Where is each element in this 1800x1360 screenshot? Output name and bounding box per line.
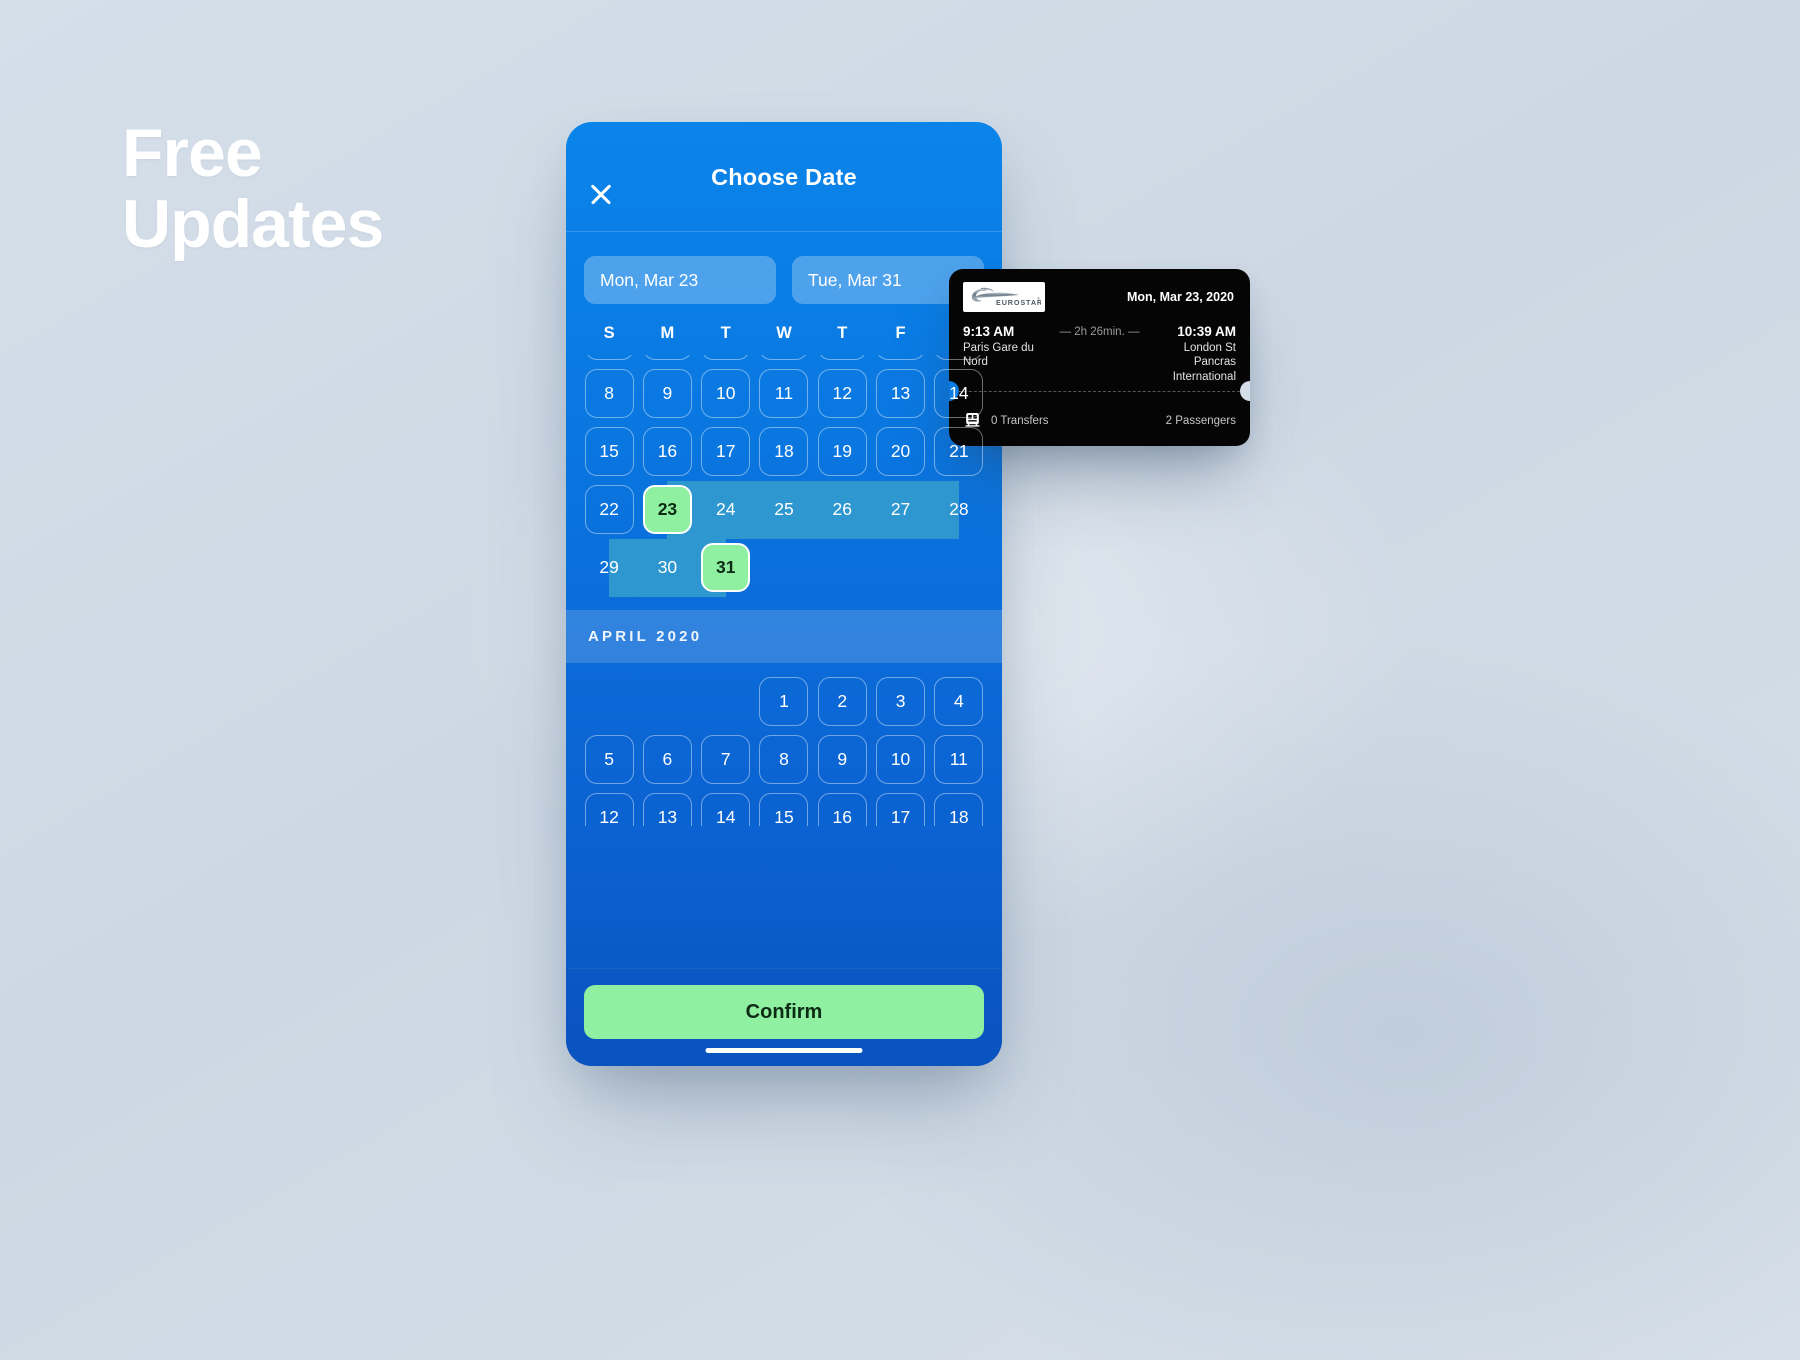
- day-5[interactable]: 5: [585, 735, 634, 784]
- weekday-2: T: [697, 324, 755, 343]
- month-grid-april: 1234567891011121314151617181920212223242…: [566, 663, 1002, 826]
- calendar-cell[interactable]: 13: [871, 369, 929, 418]
- calendar-cell[interactable]: 11: [930, 735, 988, 784]
- phone-frame: Choose Date Mon, Mar 23 Tue, Mar 31 SMTW…: [566, 122, 1002, 1066]
- calendar-cell[interactable]: 15: [580, 427, 638, 476]
- eurostar-logo-icon: EUROSTAR ®: [963, 282, 1045, 312]
- close-icon[interactable]: [584, 177, 618, 211]
- calendar-cell[interactable]: 18: [930, 793, 988, 826]
- weekday-header: SMTWTFS: [566, 304, 1002, 355]
- calendar-cell[interactable]: 5: [580, 735, 638, 784]
- empty-day: [701, 677, 750, 726]
- calendar-cell[interactable]: 13: [638, 793, 696, 826]
- calendar-cell[interactable]: 31: [697, 543, 755, 592]
- calendar-cell[interactable]: 26: [813, 485, 871, 534]
- day-18[interactable]: 18: [934, 793, 983, 826]
- day-17[interactable]: 17: [876, 793, 925, 826]
- calendar-cell[interactable]: 20: [871, 427, 929, 476]
- empty-day: [643, 677, 692, 726]
- day-1[interactable]: 1: [759, 677, 808, 726]
- calendar-cell[interactable]: 10: [697, 369, 755, 418]
- date-range-pills: Mon, Mar 23 Tue, Mar 31: [566, 232, 1002, 304]
- calendar-cell[interactable]: 5: [813, 355, 871, 360]
- weekday-0: S: [580, 324, 638, 343]
- calendar-blank-cell: [580, 677, 638, 726]
- month-label-april: APRIL 2020: [566, 610, 1002, 663]
- calendar-cell[interactable]: 27: [871, 485, 929, 534]
- calendar-cell[interactable]: 2: [638, 355, 696, 360]
- day-9[interactable]: 9: [818, 735, 867, 784]
- calendar-blank-cell: [638, 677, 696, 726]
- calendar-cell[interactable]: 12: [580, 793, 638, 826]
- start-date-field[interactable]: Mon, Mar 23: [584, 256, 776, 304]
- day-21[interactable]: 21: [934, 427, 983, 476]
- transfers-label: 0 Transfers: [991, 415, 1049, 427]
- calendar-cell[interactable]: 3: [697, 355, 755, 360]
- day-15[interactable]: 15: [585, 427, 634, 476]
- passengers-label: 2 Passengers: [1166, 415, 1236, 427]
- day-2[interactable]: 2: [643, 355, 692, 360]
- calendar-cell[interactable]: 11: [755, 369, 813, 418]
- ticket-header: EUROSTAR ® Mon, Mar 23, 2020: [949, 269, 1250, 312]
- day-31[interactable]: 31: [701, 543, 750, 592]
- day-28[interactable]: 28: [934, 485, 983, 534]
- departure-leg: 9:13 AM Paris Gare du Nord: [963, 324, 1060, 370]
- day-1[interactable]: 1: [585, 355, 634, 360]
- calendar-cell[interactable]: 3: [871, 677, 929, 726]
- calendar-cell[interactable]: 19: [813, 427, 871, 476]
- day-16[interactable]: 16: [818, 793, 867, 826]
- arrival-leg: 10:39 AM London St Pancras International: [1139, 324, 1236, 384]
- weekday-4: T: [813, 324, 871, 343]
- calendar-cell[interactable]: 18: [755, 427, 813, 476]
- day-29[interactable]: 29: [585, 543, 634, 592]
- confirm-button[interactable]: Confirm: [584, 985, 984, 1039]
- day-10[interactable]: 10: [876, 735, 925, 784]
- calendar-cell[interactable]: 16: [813, 793, 871, 826]
- calendar-cell[interactable]: 15: [755, 793, 813, 826]
- day-4[interactable]: 4: [759, 355, 808, 360]
- day-6[interactable]: 6: [876, 355, 925, 360]
- day-12[interactable]: 12: [818, 369, 867, 418]
- day-3[interactable]: 3: [701, 355, 750, 360]
- day-22[interactable]: 22: [585, 485, 634, 534]
- ticket-card[interactable]: EUROSTAR ® Mon, Mar 23, 2020 9:13 AM Par…: [949, 269, 1250, 446]
- day-6[interactable]: 6: [643, 735, 692, 784]
- weekday-1: M: [638, 324, 696, 343]
- day-15[interactable]: 15: [759, 793, 808, 826]
- calendar-cell[interactable]: 17: [697, 427, 755, 476]
- calendar-cell[interactable]: 6: [871, 355, 929, 360]
- calendar-cell[interactable]: 25: [755, 485, 813, 534]
- day-30[interactable]: 30: [643, 543, 692, 592]
- arrival-time: 10:39 AM: [1139, 324, 1236, 339]
- phone-header: Choose Date: [566, 122, 1002, 232]
- empty-day: [585, 677, 634, 726]
- calendar-cell[interactable]: 1: [755, 677, 813, 726]
- calendar-cell[interactable]: 1: [580, 355, 638, 360]
- day-20[interactable]: 20: [876, 427, 925, 476]
- departure-time: 9:13 AM: [963, 324, 1060, 339]
- day-23[interactable]: 23: [643, 485, 692, 534]
- month-grid-march: 1234567891011121314151617181920212223242…: [566, 355, 1002, 592]
- calendar-cell[interactable]: 4: [755, 355, 813, 360]
- calendar-cell[interactable]: 30: [638, 543, 696, 592]
- weekday-3: W: [755, 324, 813, 343]
- day-9[interactable]: 9: [643, 369, 692, 418]
- day-4[interactable]: 4: [934, 677, 983, 726]
- arrival-station: London St Pancras International: [1139, 341, 1236, 384]
- day-11[interactable]: 11: [759, 369, 808, 418]
- calendar-cell[interactable]: 14: [697, 793, 755, 826]
- calendar-cell[interactable]: 8: [580, 369, 638, 418]
- phone-footer: Confirm: [566, 968, 1002, 1066]
- day-16[interactable]: 16: [643, 427, 692, 476]
- calendar-cell[interactable]: 16: [638, 427, 696, 476]
- calendar-cell[interactable]: 9: [813, 735, 871, 784]
- day-12[interactable]: 12: [585, 793, 634, 826]
- eurostar-wordmark: EUROSTAR: [996, 298, 1041, 307]
- day-17[interactable]: 17: [701, 427, 750, 476]
- day-3[interactable]: 3: [876, 677, 925, 726]
- ticket-perforation: [949, 391, 1250, 392]
- calendar-cell[interactable]: 17: [871, 793, 929, 826]
- calendar-cell[interactable]: 23: [638, 485, 696, 534]
- day-8[interactable]: 8: [585, 369, 634, 418]
- day-14[interactable]: 14: [934, 369, 983, 418]
- headline-text: Free Updates: [122, 118, 383, 259]
- calendar-cell[interactable]: 21: [930, 427, 988, 476]
- day-24[interactable]: 24: [701, 485, 750, 534]
- calendar-cell[interactable]: 9: [638, 369, 696, 418]
- calendar-cell[interactable]: 8: [755, 735, 813, 784]
- calendar-cell[interactable]: 29: [580, 543, 638, 592]
- calendar-cell[interactable]: 24: [697, 485, 755, 534]
- day-13[interactable]: 13: [876, 369, 925, 418]
- calendar-cell[interactable]: 6: [638, 735, 696, 784]
- day-27[interactable]: 27: [876, 485, 925, 534]
- weekday-5: F: [871, 324, 929, 343]
- day-10[interactable]: 10: [701, 369, 750, 418]
- svg-text:®: ®: [1037, 296, 1040, 301]
- calendar-scroll-area[interactable]: 1234567891011121314151617181920212223242…: [566, 355, 1002, 826]
- day-14[interactable]: 14: [701, 793, 750, 826]
- day-11[interactable]: 11: [934, 735, 983, 784]
- day-7[interactable]: 7: [701, 735, 750, 784]
- day-8[interactable]: 8: [759, 735, 808, 784]
- page-title: Choose Date: [566, 122, 1002, 232]
- home-indicator: [706, 1048, 863, 1053]
- day-26[interactable]: 26: [818, 485, 867, 534]
- calendar-cell[interactable]: 10: [871, 735, 929, 784]
- calendar-cell[interactable]: 22: [580, 485, 638, 534]
- trip-duration: — 2h 26min. —: [1060, 324, 1140, 338]
- calendar-blank-cell: [697, 677, 755, 726]
- calendar-cell[interactable]: 4: [930, 677, 988, 726]
- day-18[interactable]: 18: [759, 427, 808, 476]
- day-13[interactable]: 13: [643, 793, 692, 826]
- day-25[interactable]: 25: [759, 485, 808, 534]
- calendar-cell[interactable]: 2: [813, 677, 871, 726]
- day-2[interactable]: 2: [818, 677, 867, 726]
- calendar-cell[interactable]: 14: [930, 369, 988, 418]
- ticket-date: Mon, Mar 23, 2020: [1055, 290, 1236, 304]
- calendar-cell[interactable]: 28: [930, 485, 988, 534]
- calendar-cell[interactable]: 12: [813, 369, 871, 418]
- ticket-journey: 9:13 AM Paris Gare du Nord — 2h 26min. —…: [949, 312, 1250, 384]
- day-5[interactable]: 5: [818, 355, 867, 360]
- calendar-cell[interactable]: 7: [697, 735, 755, 784]
- day-19[interactable]: 19: [818, 427, 867, 476]
- ticket-footer: 0 Transfers 2 Passengers: [949, 395, 1250, 446]
